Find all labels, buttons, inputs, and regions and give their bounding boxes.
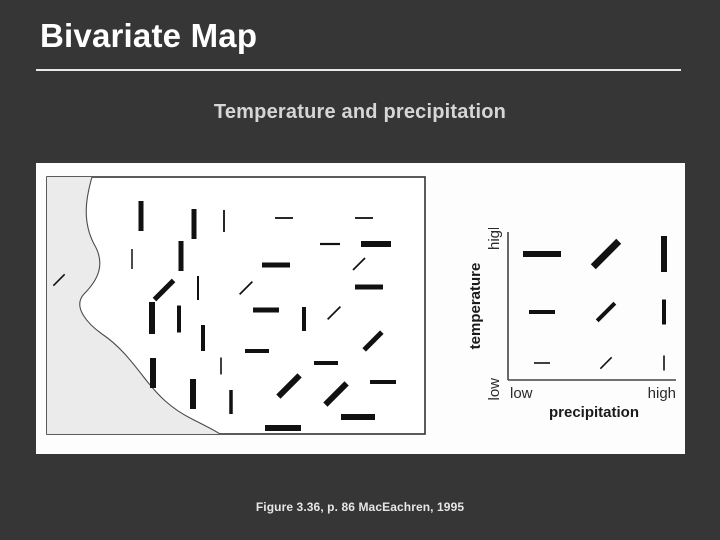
- figure-caption: Figure 3.36, p. 86 MacEachren, 1995: [0, 500, 720, 514]
- map-glyph: [355, 285, 383, 290]
- map-glyph: [302, 307, 306, 331]
- legend-glyph-high-low: [523, 251, 561, 257]
- map-glyph: [131, 249, 133, 269]
- legend-glyph-mid-high: [662, 300, 666, 325]
- map-glyph: [150, 358, 156, 388]
- legend-svg: temperature high low low high precipitat…: [466, 228, 681, 423]
- map-glyph: [223, 210, 225, 232]
- legend-glyph-group: [523, 236, 667, 371]
- map-container: [46, 176, 426, 435]
- figure-panel: temperature high low low high precipitat…: [36, 163, 685, 454]
- map-glyph: [262, 263, 290, 268]
- map-glyph: [201, 325, 205, 351]
- map-glyph: [265, 425, 301, 431]
- legend-x-high-label: high: [648, 385, 676, 402]
- page-title: Bivariate Map: [40, 17, 257, 55]
- map-glyph: [355, 217, 373, 219]
- legend-y-high-label: high: [486, 228, 503, 250]
- map-glyph: [370, 380, 396, 384]
- legend-glyph-mid-low: [529, 310, 555, 314]
- map-glyph: [179, 241, 184, 271]
- map-glyph: [361, 241, 391, 247]
- title-divider: [36, 69, 681, 71]
- map-glyph: [314, 361, 338, 365]
- legend-x-low-label: low: [510, 385, 533, 402]
- map-glyph: [190, 379, 196, 409]
- map-glyph: [177, 306, 181, 333]
- map-glyph: [192, 209, 197, 239]
- slide: Bivariate Map Temperature and precipitat…: [0, 0, 720, 540]
- legend-x-axis-label: precipitation: [549, 404, 639, 421]
- map-glyph: [229, 390, 233, 414]
- legend-y-low-label: low: [486, 378, 503, 401]
- legend-y-axis-label: temperature: [467, 263, 484, 350]
- map-glyph: [220, 358, 222, 375]
- legend-glyph-low-low: [534, 362, 550, 364]
- legend-glyph-high-mid: [591, 239, 621, 269]
- map-glyph: [139, 201, 144, 231]
- legend-glyph-mid-mid: [596, 302, 617, 323]
- map-svg: [46, 176, 426, 435]
- legend-glyph-low-mid: [600, 357, 612, 369]
- page-subtitle: Temperature and precipitation: [0, 101, 720, 124]
- legend-container: temperature high low low high precipitat…: [466, 228, 681, 423]
- legend-glyph-low-high: [663, 356, 665, 371]
- map-glyph: [320, 243, 340, 245]
- map-glyph: [275, 217, 293, 219]
- map-glyph: [341, 414, 375, 420]
- legend-glyph-high-high: [661, 236, 667, 272]
- map-glyph: [149, 302, 155, 334]
- map-glyph: [253, 308, 279, 313]
- map-glyph: [197, 276, 199, 300]
- map-glyph: [245, 349, 269, 353]
